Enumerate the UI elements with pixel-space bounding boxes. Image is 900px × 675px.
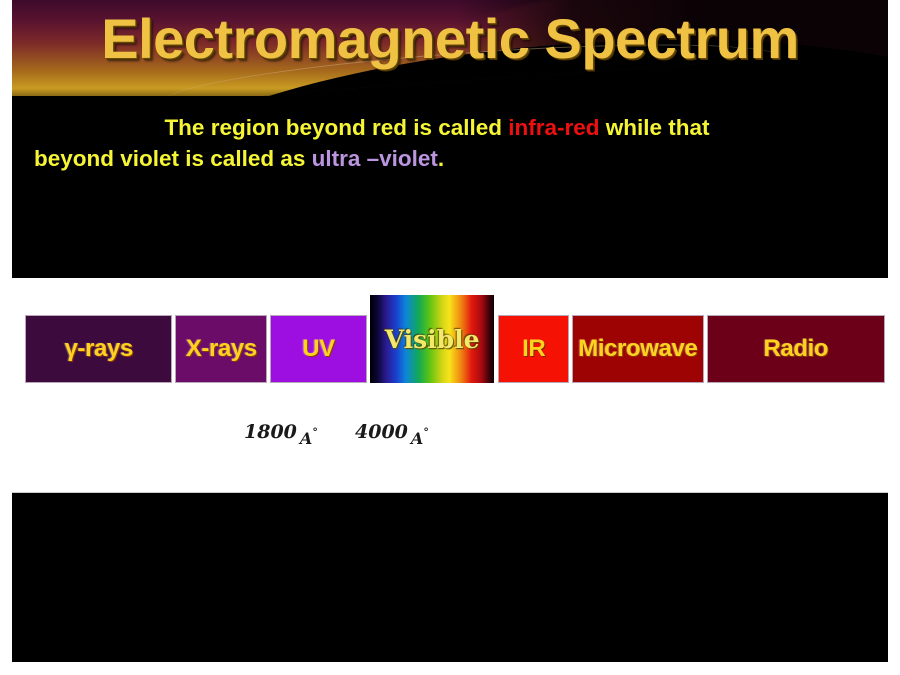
spectrum-band-visible: Visible bbox=[370, 295, 495, 383]
band-label-microwave: Microwave bbox=[578, 335, 697, 363]
degree-icon: ° bbox=[423, 426, 429, 439]
wavelength-annotation-1800: 1800A° bbox=[244, 421, 315, 443]
body-line1-pre: The region beyond red is called bbox=[164, 115, 508, 140]
wavelength-1800-unit: A° bbox=[300, 429, 318, 448]
spectrum-band-x-rays: X-rays bbox=[175, 315, 267, 383]
term-ultra-violet: ultra –violet bbox=[312, 146, 438, 171]
band-label-x-rays: X-rays bbox=[186, 335, 257, 363]
body-line2-pre: beyond violet is called as bbox=[34, 146, 312, 171]
body-line-2: beyond violet is called as ultra –violet… bbox=[34, 143, 866, 174]
spectrum-band-radio: Radio bbox=[707, 315, 885, 383]
slide-body-lower bbox=[12, 492, 888, 662]
spectrum-figure-area: γ-rays X-rays UV Visible IR Microwave Ra… bbox=[12, 278, 888, 492]
spectrum-band-uv: UV bbox=[270, 315, 367, 383]
band-label-gamma-rays: γ-rays bbox=[65, 335, 133, 363]
page-title: Electromagnetic Spectrum bbox=[12, 6, 888, 71]
spectrum-strip: γ-rays X-rays UV Visible IR Microwave Ra… bbox=[25, 313, 885, 383]
slide-canvas: Electromagnetic Spectrum The region beyo… bbox=[12, 0, 888, 675]
slide-header-banner: Electromagnetic Spectrum bbox=[12, 0, 888, 96]
band-label-radio: Radio bbox=[763, 335, 828, 363]
wavelength-1800-value: 1800 bbox=[244, 421, 297, 443]
degree-icon: ° bbox=[312, 426, 318, 439]
band-label-visible: Visible bbox=[385, 325, 480, 354]
spectrum-band-microwave: Microwave bbox=[572, 315, 704, 383]
spectrum-band-ir: IR bbox=[498, 315, 569, 383]
term-infra-red: infra-red bbox=[508, 115, 599, 140]
wavelength-4000-value: 4000 bbox=[355, 421, 408, 443]
body-line2-post: . bbox=[438, 146, 444, 171]
spectrum-band-gamma-rays: γ-rays bbox=[25, 315, 172, 383]
band-label-ir: IR bbox=[522, 335, 545, 363]
wavelength-4000-unit: A° bbox=[411, 429, 429, 448]
body-line-1: The region beyond red is called infra-re… bbox=[34, 112, 866, 143]
wavelength-annotation-4000: 4000A° bbox=[355, 421, 426, 443]
slide-body-upper: The region beyond red is called infra-re… bbox=[12, 96, 888, 278]
body-paragraph: The region beyond red is called infra-re… bbox=[34, 112, 866, 174]
band-label-uv: UV bbox=[302, 335, 335, 363]
angstrom-letter: A bbox=[411, 429, 423, 448]
body-line1-post: while that bbox=[600, 115, 710, 140]
angstrom-letter: A bbox=[300, 429, 312, 448]
